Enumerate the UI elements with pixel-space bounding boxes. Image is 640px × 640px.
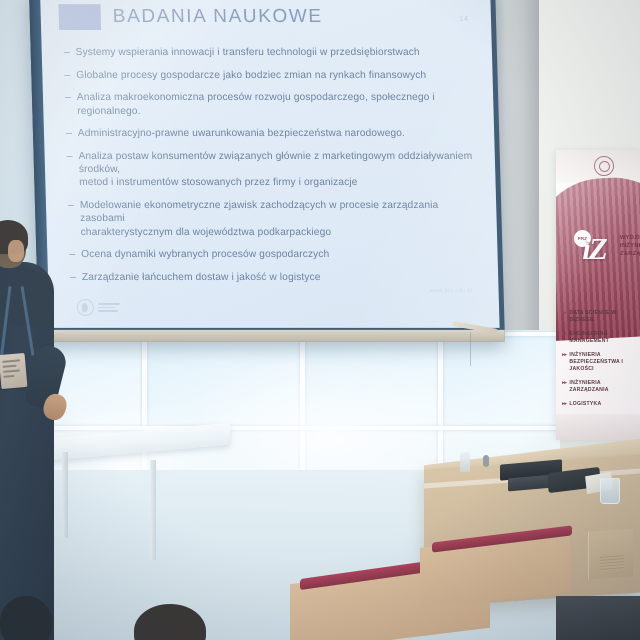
bullet-text: Globalne procesy gospodarcze jako bodzie… — [76, 69, 426, 82]
bullet-item: – Administracyjno-prawne uwarunkowania b… — [66, 127, 481, 140]
lectern-side-panel — [588, 528, 633, 579]
bullet-dash-icon: – — [66, 150, 73, 190]
screen-bottom-bar — [38, 330, 505, 342]
title-accent-block — [58, 4, 101, 30]
banner-glare — [556, 150, 640, 440]
presentation-slide: BADANIA NAUKOWE 14 – Systemy wspierania … — [40, 0, 500, 328]
slide-footer-note: www.prz.edu.pl — [430, 288, 472, 294]
screen-cord[interactable] — [470, 332, 471, 366]
bullet-dash-icon: – — [64, 69, 70, 82]
bullet-text: Administracyjno-prawne uwarunkowania bez… — [78, 127, 405, 140]
presenter-face — [8, 240, 24, 262]
bullet-text: Ocena dynamiki wybranych procesów gospod… — [81, 248, 329, 261]
bullet-item: – Analiza makroekonomiczna procesów rozw… — [65, 91, 480, 117]
bullet-text: Modelowanie ekonometryczne zjawisk zacho… — [80, 199, 483, 239]
bullet-text: Zarządzanie łańcuchem dostaw i jakość w … — [82, 271, 321, 284]
slide-footer-logo — [77, 299, 120, 316]
bullet-dash-icon: – — [70, 271, 76, 284]
bullet-item: – Zarządzanie łańcuchem dostaw i jakość … — [70, 271, 485, 284]
bullet-item: – Modelowanie ekonometryczne zjawisk zac… — [68, 199, 483, 239]
logo-wordmark-icon — [98, 303, 120, 312]
table-leg — [150, 460, 156, 560]
bullet-item: – Analiza postaw konsumentów związanych … — [66, 150, 481, 190]
university-emblem-icon — [77, 299, 94, 316]
microphone[interactable] — [483, 455, 489, 467]
bullet-item: – Ocena dynamiki wybranych procesów gosp… — [69, 248, 484, 261]
slide-bullet-list: – Systemy wspierania innowacji i transfe… — [64, 46, 485, 294]
rollup-banner: PRZ iZ WYDZIAŁ INŻYNIERII ZARZĄDZANIA ▸▸… — [556, 150, 640, 440]
projection-screen: BADANIA NAUKOWE 14 – Systemy wspierania … — [29, 0, 505, 342]
water-bottle — [460, 452, 470, 472]
water-glass — [600, 478, 620, 504]
slide-number: 14 — [459, 16, 469, 23]
conference-badge — [0, 353, 27, 389]
bullet-dash-icon: – — [69, 248, 75, 261]
bullet-item: – Globalne procesy gospodarcze jako bodz… — [64, 69, 479, 82]
audience-head — [0, 596, 52, 640]
bullet-text: Analiza postaw konsumentów związanych gł… — [78, 150, 481, 190]
bullet-dash-icon: – — [68, 199, 75, 239]
presenter — [0, 226, 64, 640]
bullet-dash-icon: – — [64, 46, 70, 59]
bullet-item: – Systemy wspierania innowacji i transfe… — [64, 46, 479, 59]
bullet-dash-icon: – — [65, 91, 72, 117]
slide-title: BADANIA NAUKOWE — [112, 6, 323, 28]
bullet-text: Analiza makroekonomiczna procesów rozwoj… — [77, 91, 480, 117]
auditorium-seat — [556, 596, 640, 640]
lectern-vent-grille — [600, 555, 624, 571]
conference-room-photo: BADANIA NAUKOWE 14 – Systemy wspierania … — [0, 0, 640, 640]
bullet-text: Systemy wspierania innowacji i transferu… — [75, 46, 419, 59]
bullet-dash-icon: – — [66, 127, 72, 140]
